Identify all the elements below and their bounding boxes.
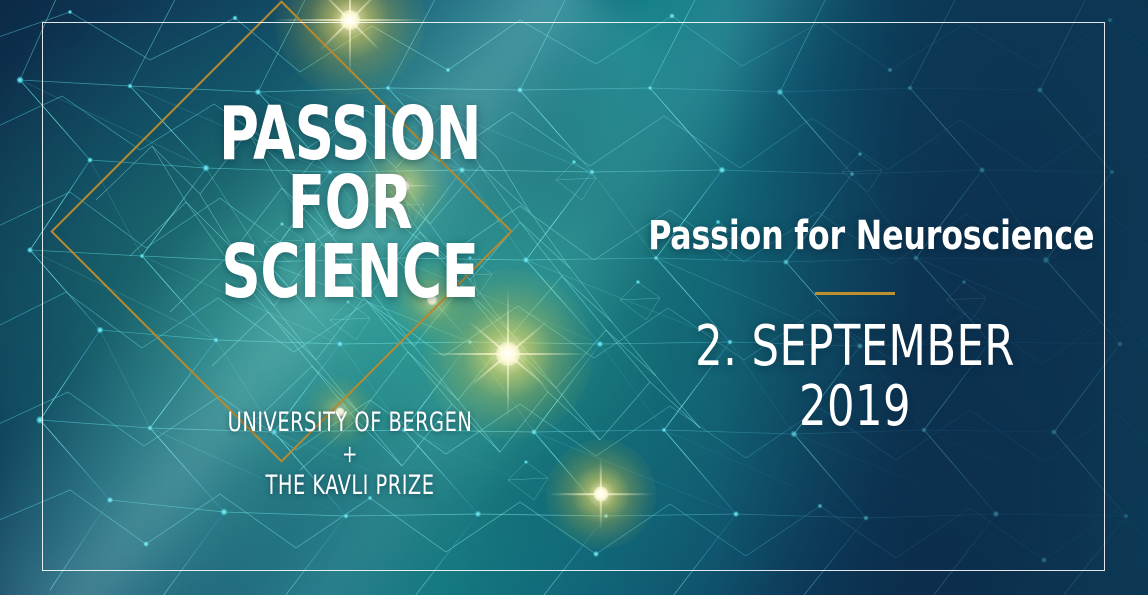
event-info-block: Passion for Neuroscience 2. SEPTEMBER 20… bbox=[620, 215, 1090, 438]
organizer-kavli-prize: THE KAVLI PRIZE bbox=[158, 468, 542, 504]
organizer-university: UNIVERSITY OF BERGEN bbox=[158, 405, 542, 441]
event-date-day-month: 2. SEPTEMBER bbox=[653, 317, 1057, 377]
headline-line-1: PASSION bbox=[153, 100, 547, 169]
event-date-block: 2. SEPTEMBER 2019 bbox=[620, 317, 1090, 438]
event-title: Passion for Neuroscience bbox=[648, 215, 1062, 257]
headline-line-3: SCIENCE bbox=[153, 238, 547, 307]
organizers-block: UNIVERSITY OF BERGEN + THE KAVLI PRIZE bbox=[110, 405, 590, 504]
headline-line-2: FOR bbox=[153, 169, 547, 238]
event-date-year: 2019 bbox=[653, 377, 1057, 437]
headline-block: PASSION FOR SCIENCE bbox=[110, 100, 590, 306]
gold-divider-rule bbox=[815, 292, 895, 295]
organizer-plus: + bbox=[146, 441, 554, 469]
event-banner: PASSION FOR SCIENCE UNIVERSITY OF BERGEN… bbox=[0, 0, 1148, 595]
